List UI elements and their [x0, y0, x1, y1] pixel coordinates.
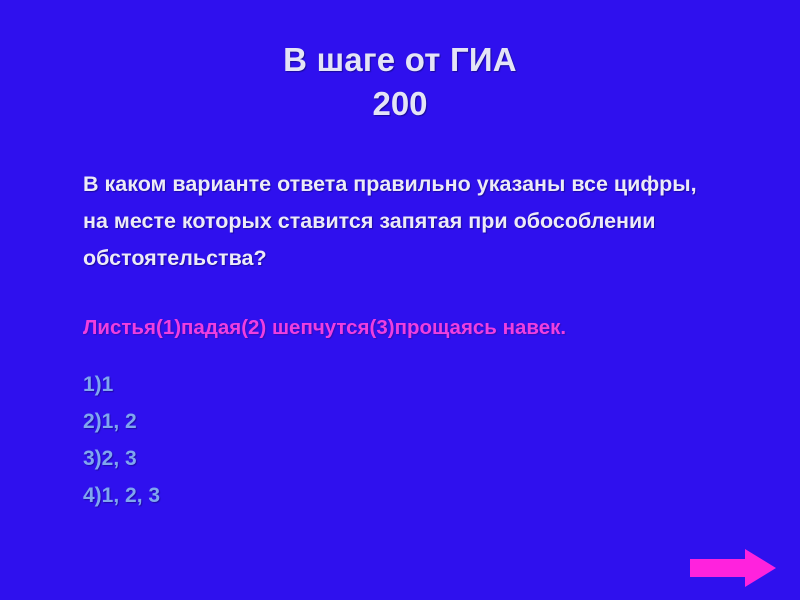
next-button[interactable]	[688, 548, 778, 588]
question-text: В каком варианте ответа правильно указан…	[83, 166, 708, 277]
quiz-slide: В шаге от ГИА 200 В каком варианте ответ…	[0, 0, 800, 600]
example-sentence: Листья(1)падая(2) шепчутся(3)прощаясь на…	[83, 313, 723, 343]
arrow-right-icon	[688, 548, 778, 588]
answer-option-3[interactable]: 3)2, 3	[83, 440, 423, 477]
points-value: 200	[0, 82, 800, 126]
answer-option-2[interactable]: 2)1, 2	[83, 403, 423, 440]
slide-title-block: В шаге от ГИА 200	[0, 38, 800, 126]
answer-options-list: 1)1 2)1, 2 3)2, 3 4)1, 2, 3	[83, 366, 423, 514]
answer-option-4[interactable]: 4)1, 2, 3	[83, 477, 423, 514]
page-title: В шаге от ГИА	[0, 38, 800, 82]
answer-option-1[interactable]: 1)1	[83, 366, 423, 403]
